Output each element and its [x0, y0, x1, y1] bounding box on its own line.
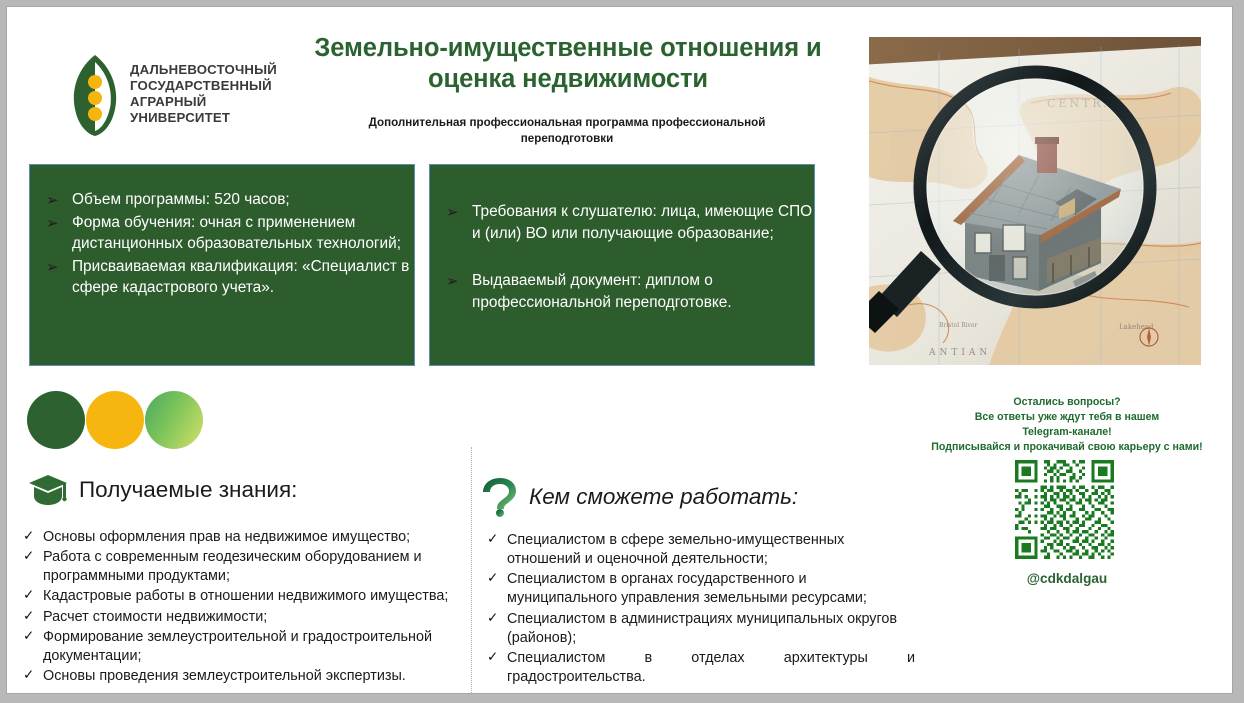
svg-text:ANTIAN: ANTIAN — [928, 348, 991, 358]
hero-image-magnifier-map-house: CENTRAL Lakehead ANTIAN Bristol River — [869, 37, 1201, 365]
list-item-text-tail: градостроительства. — [507, 669, 646, 685]
circle-dark-green — [27, 391, 85, 449]
check-icon: ✓ — [23, 628, 34, 646]
check-icon: ✓ — [487, 610, 498, 628]
list-item: ✓Специалистом в органах государственного… — [485, 570, 915, 608]
page-subtitle: Дополнительная профессиональная программ… — [337, 115, 797, 146]
list-item-text: Работа с современным геодезическим обору… — [43, 549, 422, 584]
list-item-text: Выдаваемый документ: диплом о профессион… — [472, 272, 732, 311]
university-logo-text: ДАЛЬНЕВОСТОЧНЫЙ ГОСУДАРСТВЕННЫЙ АГРАРНЫЙ… — [130, 63, 277, 125]
check-icon: ✓ — [487, 531, 498, 549]
list-item-text: Специалистом в органах государственного … — [507, 571, 867, 606]
program-details-list: ➢Объем программы: 520 часов; ➢Форма обуч… — [30, 165, 414, 299]
list-item: ✓Специалистом в отделах архитектуры игра… — [485, 649, 915, 687]
logo-line-4: УНИВЕРСИТЕТ — [130, 111, 277, 126]
list-item: ✓Основы оформления прав на недвижимое им… — [21, 528, 473, 547]
page-title: Земельно-имущественные отношения и оценк… — [283, 33, 853, 95]
list-item: ✓Специалистом в администрациях муниципал… — [485, 610, 915, 648]
jobs-list: ✓Специалистом в сфере земельно-имуществе… — [485, 531, 915, 688]
logo-line-3: АГРАРНЫЙ — [130, 95, 277, 110]
telegram-line-3: Telegram-канале! — [907, 425, 1227, 440]
list-item-text: Основы проведения землеустроительной экс… — [43, 668, 406, 684]
check-icon: ✓ — [23, 548, 34, 566]
logo-line-1: ДАЛЬНЕВОСТОЧНЫЙ — [130, 63, 277, 78]
knowledge-list: ✓Основы оформления прав на недвижимое им… — [21, 528, 473, 687]
list-item: ➢Форма обучения: очная с применением дис… — [30, 212, 414, 255]
check-icon: ✓ — [23, 528, 34, 546]
list-item: ➢Присваиваемая квалификация: «Специалист… — [30, 256, 414, 299]
logo-line-2: ГОСУДАРСТВЕННЫЙ — [130, 79, 277, 94]
telegram-handle[interactable]: @cdkdalgau — [907, 571, 1227, 586]
list-item-text: Специалистом в сфере земельно-имуществен… — [507, 532, 844, 567]
circle-green-gradient — [145, 391, 203, 449]
list-item-text: Формирование землеустроительной и градос… — [43, 629, 432, 664]
university-logo: ДАЛЬНЕВОСТОЧНЫЙ ГОСУДАРСТВЕННЫЙ АГРАРНЫЙ… — [69, 47, 284, 142]
question-mark-icon — [481, 477, 519, 517]
arrow-bullet-icon: ➢ — [446, 271, 459, 292]
list-item: ➢Выдаваемый документ: диплом о профессио… — [430, 270, 814, 313]
svg-text:Bristol River: Bristol River — [939, 322, 978, 329]
slide-frame: ДАЛЬНЕВОСТОЧНЫЙ ГОСУДАРСТВЕННЫЙ АГРАРНЫЙ… — [0, 0, 1244, 703]
jobs-heading: Кем сможете работать: — [481, 477, 798, 517]
list-item-text: Специалистом в отделах архитектуры и — [507, 649, 915, 668]
arrow-bullet-icon: ➢ — [46, 257, 59, 278]
list-item-text: Присваиваемая квалификация: «Специалист … — [72, 258, 409, 297]
list-item: ✓Работа с современным геодезическим обор… — [21, 548, 473, 586]
telegram-qr-code[interactable] — [1012, 457, 1117, 562]
knowledge-heading: Получаемые знания: — [27, 473, 297, 507]
list-item: ✓Формирование землеустроительной и градо… — [21, 628, 473, 666]
circle-amber — [86, 391, 144, 449]
decorative-circles — [27, 391, 213, 453]
arrow-bullet-icon: ➢ — [46, 190, 59, 211]
list-item-text: Расчет стоимости недвижимости; — [43, 609, 267, 625]
list-item: ➢Объем программы: 520 часов; — [30, 189, 414, 211]
list-item-text: Требования к слушателю: лица, имеющие СП… — [472, 203, 812, 242]
check-icon: ✓ — [23, 587, 34, 605]
program-details-box: ➢Объем программы: 520 часов; ➢Форма обуч… — [29, 164, 415, 366]
check-icon: ✓ — [487, 649, 498, 667]
arrow-bullet-icon: ➢ — [46, 213, 59, 234]
telegram-line-2: Все ответы уже ждут тебя в нашем — [907, 410, 1227, 425]
admission-requirements-box: ➢Требования к слушателю: лица, имеющие С… — [429, 164, 815, 366]
list-item-text: Объем программы: 520 часов; — [72, 191, 290, 208]
knowledge-heading-text: Получаемые знания: — [79, 479, 297, 502]
telegram-line-1: Остались вопросы? — [907, 395, 1227, 410]
list-item: ✓Специалистом в сфере земельно-имуществе… — [485, 531, 915, 569]
check-icon: ✓ — [23, 667, 34, 685]
jobs-heading-text: Кем сможете работать: — [529, 486, 798, 509]
arrow-bullet-icon: ➢ — [446, 202, 459, 223]
list-item: ✓Расчет стоимости недвижимости; — [21, 608, 473, 627]
list-item: ✓Кадастровые работы в отношении недвижим… — [21, 587, 473, 606]
list-item: ➢Требования к слушателю: лица, имеющие С… — [430, 201, 814, 244]
list-item-text: Основы оформления прав на недвижимое иму… — [43, 529, 410, 545]
graduation-cap-icon — [27, 473, 69, 507]
list-item-text: Форма обучения: очная с применением дист… — [72, 214, 401, 253]
list-item: ✓Основы проведения землеустроительной эк… — [21, 667, 473, 686]
list-item-text: Специалистом в администрациях муниципаль… — [507, 611, 897, 646]
slide-canvas: ДАЛЬНЕВОСТОЧНЫЙ ГОСУДАРСТВЕННЫЙ АГРАРНЫЙ… — [7, 7, 1232, 693]
telegram-callout: Остались вопросы? Все ответы уже ждут те… — [907, 395, 1227, 455]
leaf-pod-logo-icon — [69, 53, 121, 137]
list-item-text: Кадастровые работы в отношении недвижимо… — [43, 588, 448, 604]
admission-requirements-list: ➢Требования к слушателю: лица, имеющие С… — [430, 165, 814, 313]
check-icon: ✓ — [23, 608, 34, 626]
telegram-line-4: Подписывайся и прокачивай свою карьеру с… — [907, 440, 1227, 455]
check-icon: ✓ — [487, 570, 498, 588]
